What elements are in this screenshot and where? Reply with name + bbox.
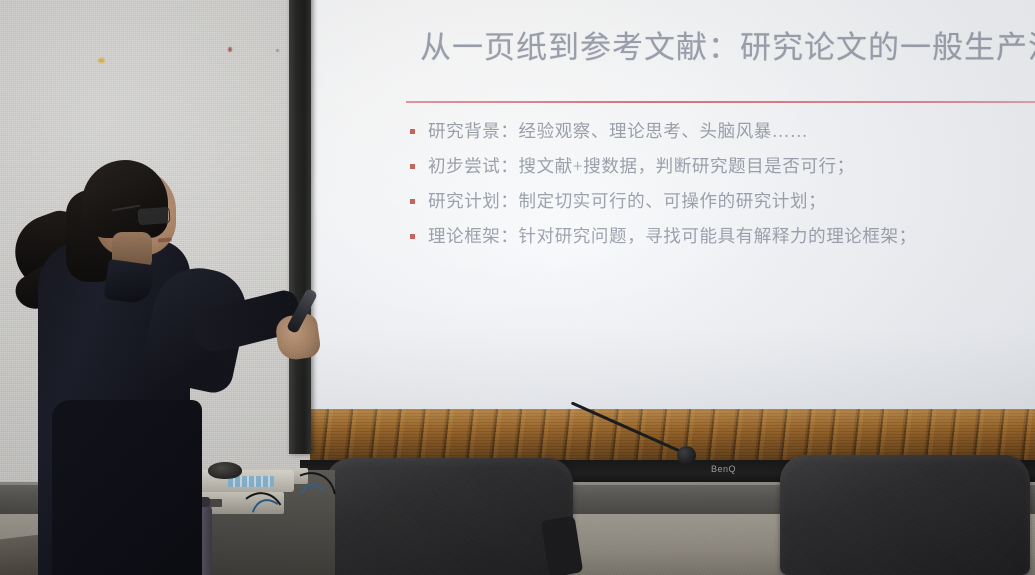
screen-bezel-left: [289, 0, 311, 454]
chair-right: [780, 455, 1030, 575]
slide-divider-rule: [406, 101, 1035, 103]
wall-mark-gray: [276, 49, 279, 52]
bullet-square-icon: [410, 199, 415, 204]
bullet-text: 研究背景：经验观察、理论思考、头脑风暴……: [428, 116, 808, 146]
mouse-device: [208, 462, 242, 479]
chair-fabric-texture: [780, 455, 1030, 575]
list-item: 理论框架：针对研究问题，寻找可能具有解释力的理论框架；: [410, 221, 1035, 256]
list-item: 研究背景：经验观察、理论思考、头脑风暴……: [410, 116, 1035, 151]
presenter-lower-body: [52, 400, 202, 575]
slide-bullet-list: 研究背景：经验观察、理论思考、头脑风暴…… 初步尝试：搜文献+搜数据，判断研究题…: [410, 116, 1035, 256]
projection-screen: 从一页纸到参考文献：研究论文的一般生产流程 研究背景：经验观察、理论思考、头脑风…: [310, 0, 1035, 410]
bullet-square-icon: [410, 164, 415, 169]
microphone-head-icon: [677, 446, 696, 465]
wall-mark-red: [228, 47, 232, 52]
list-item: 研究计划：制定切实可行的、可操作的研究计划；: [410, 186, 1035, 221]
slide-title: 从一页纸到参考文献：研究论文的一般生产流程: [420, 22, 1030, 67]
lecture-photo-scene: 从一页纸到参考文献：研究论文的一般生产流程 研究背景：经验观察、理论思考、头脑风…: [0, 0, 1035, 575]
chair-fabric-texture: [325, 458, 573, 575]
wall-mark-yellow: [98, 58, 105, 63]
benq-brand-label: BenQ: [711, 464, 736, 474]
glasses-icon: [137, 207, 170, 225]
hair-top: [82, 160, 168, 238]
bullet-square-icon: [410, 129, 415, 134]
bullet-text: 初步尝试：搜文献+搜数据，判断研究题目是否可行；: [428, 151, 855, 181]
bullet-text: 理论框架：针对研究问题，寻找可能具有解释力的理论框架；: [428, 221, 917, 251]
list-item: 初步尝试：搜文献+搜数据，判断研究题目是否可行；: [410, 151, 1035, 186]
chair-left: [325, 458, 573, 575]
bullet-square-icon: [410, 234, 415, 239]
bullet-text: 研究计划：制定切实可行的、可操作的研究计划；: [428, 186, 826, 216]
